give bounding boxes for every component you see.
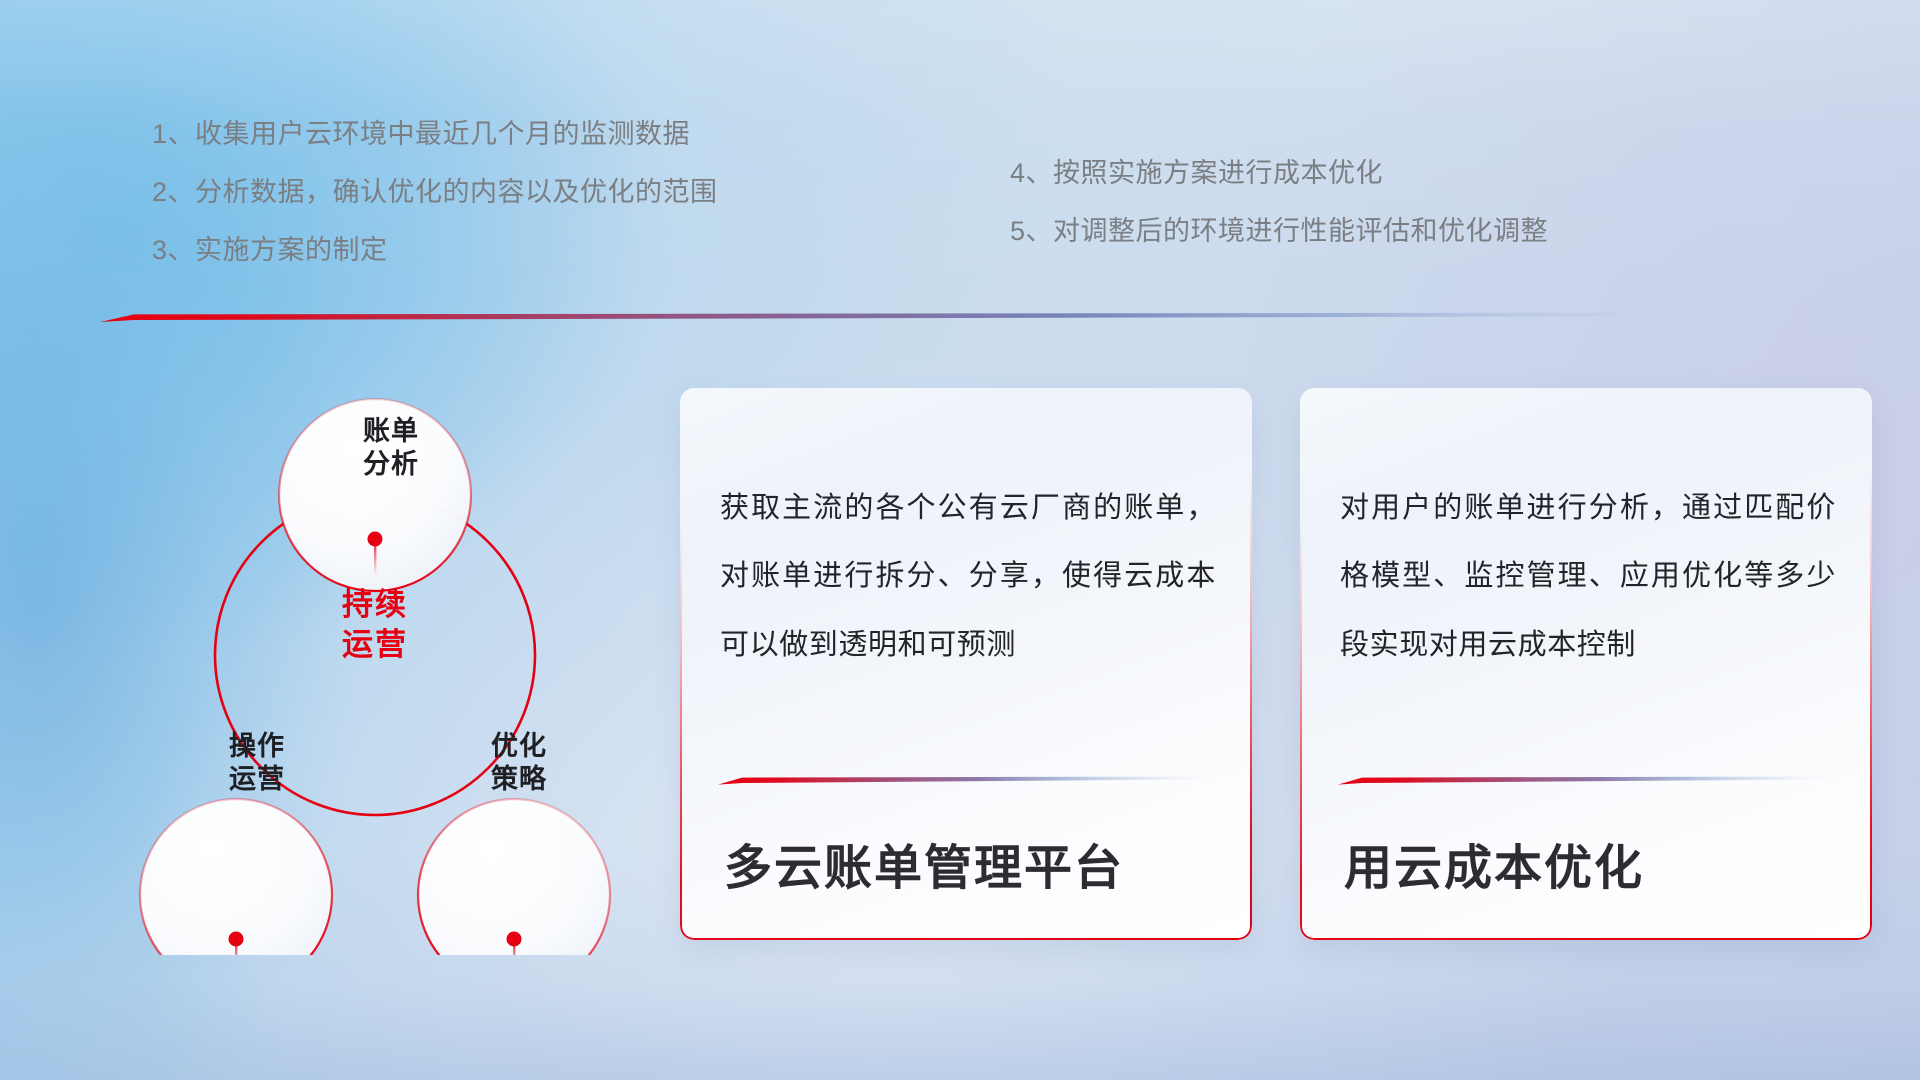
card-divider-rule bbox=[1338, 776, 1834, 786]
card-title: 用云成本优化 bbox=[1344, 828, 1852, 898]
step-item: 3、实施方案的制定 bbox=[152, 237, 718, 264]
anchor-dot-top bbox=[368, 532, 383, 547]
anchor-dot-left bbox=[229, 932, 244, 947]
step-item: 2、分析数据，确认优化的内容以及优化的范围 bbox=[152, 179, 718, 206]
process-circle-diagram bbox=[95, 355, 655, 955]
anchor-dot-right bbox=[507, 932, 522, 947]
card-body-text: 对用户的账单进行分析，通过匹配价格模型、监控管理、应用优化等多少段实现对用云成本… bbox=[1340, 474, 1836, 679]
header-divider-rule bbox=[100, 312, 1680, 324]
slide-canvas: 1、收集用户云环境中最近几个月的监测数据 2、分析数据，确认优化的内容以及优化的… bbox=[0, 0, 1920, 1080]
info-card-multicloud-billing[interactable]: 获取主流的各个公有云厂商的账单，对账单进行拆分、分享，使得云成本可以做到透明和可… bbox=[680, 388, 1252, 940]
steps-left-column: 1、收集用户云环境中最近几个月的监测数据 2、分析数据，确认优化的内容以及优化的… bbox=[152, 121, 718, 264]
card-title: 多云账单管理平台 bbox=[724, 828, 1232, 898]
step-item: 1、收集用户云环境中最近几个月的监测数据 bbox=[152, 121, 718, 148]
step-item: 4、按照实施方案进行成本优化 bbox=[1010, 160, 1548, 187]
steps-right-column: 4、按照实施方案进行成本优化 5、对调整后的环境进行性能评估和优化调整 bbox=[1010, 160, 1548, 245]
card-divider-rule bbox=[718, 776, 1214, 786]
step-item: 5、对调整后的环境进行性能评估和优化调整 bbox=[1010, 218, 1548, 245]
card-body-text: 获取主流的各个公有云厂商的账单，对账单进行拆分、分享，使得云成本可以做到透明和可… bbox=[720, 474, 1216, 679]
info-card-cost-optimization[interactable]: 对用户的账单进行分析，通过匹配价格模型、监控管理、应用优化等多少段实现对用云成本… bbox=[1300, 388, 1872, 940]
